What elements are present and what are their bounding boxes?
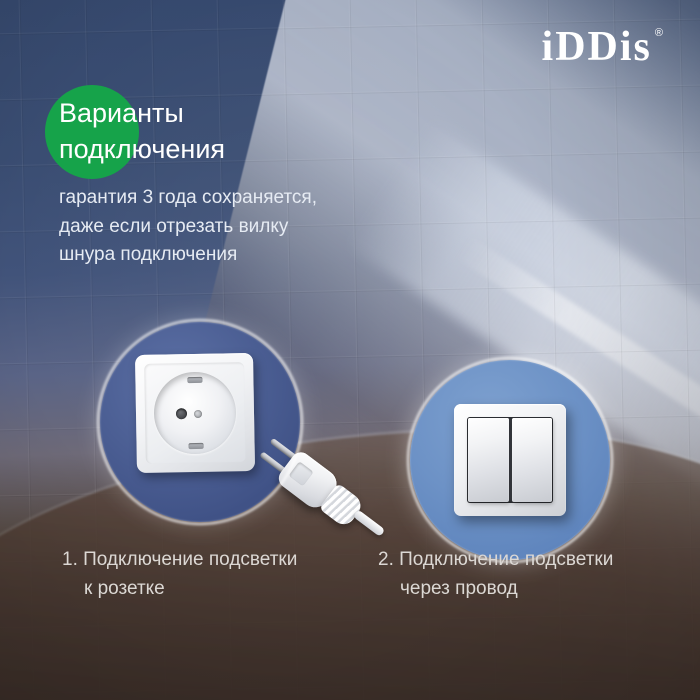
subtitle-text: гарантия 3 года сохраняется, даже если о…	[59, 184, 399, 270]
page-title: Варианты подключения	[59, 96, 389, 167]
switch-rocker	[468, 418, 509, 502]
brand-logo-text: iDDis	[542, 26, 652, 68]
switch-rocker	[512, 418, 553, 502]
switch-rocker-group	[467, 417, 553, 503]
caption-option-1: 1. Подключение подсветки к розетке	[62, 545, 362, 604]
product-image-switch	[410, 360, 610, 560]
page-title-line-1: Варианты	[59, 96, 389, 132]
promo-poster: iDDis ® Варианты подключения гарантия 3 …	[0, 0, 700, 700]
plug-face	[288, 461, 313, 486]
caption-option-2-line-2: через провод	[378, 574, 688, 603]
subtitle-line-3: шнура подключения	[59, 241, 399, 270]
product-image-socket	[100, 322, 300, 522]
plug-pin	[259, 451, 287, 474]
light-switch-icon	[454, 404, 566, 516]
caption-option-2-line-1: 2. Подключение подсветки	[378, 545, 688, 574]
socket-screw	[194, 410, 202, 418]
caption-option-2: 2. Подключение подсветки через провод	[378, 545, 688, 604]
plug-pin	[270, 438, 298, 461]
caption-option-1-line-2: к розетке	[62, 574, 362, 603]
socket-bowl	[153, 371, 236, 454]
socket-inner-frame	[144, 362, 246, 464]
brand-logo: iDDis ®	[542, 26, 664, 68]
page-title-line-2: подключения	[59, 132, 389, 168]
registered-trademark-icon: ®	[655, 28, 664, 39]
wall-socket-icon	[135, 353, 255, 473]
socket-pin-hole	[176, 408, 187, 419]
switch-faceplate	[454, 404, 566, 516]
caption-option-1-line-1: 1. Подключение подсветки	[62, 545, 362, 574]
subtitle-line-1: гарантия 3 года сохраняется,	[59, 184, 399, 213]
socket-faceplate	[135, 353, 255, 473]
subtitle-line-2: даже если отрезать вилку	[59, 213, 399, 242]
